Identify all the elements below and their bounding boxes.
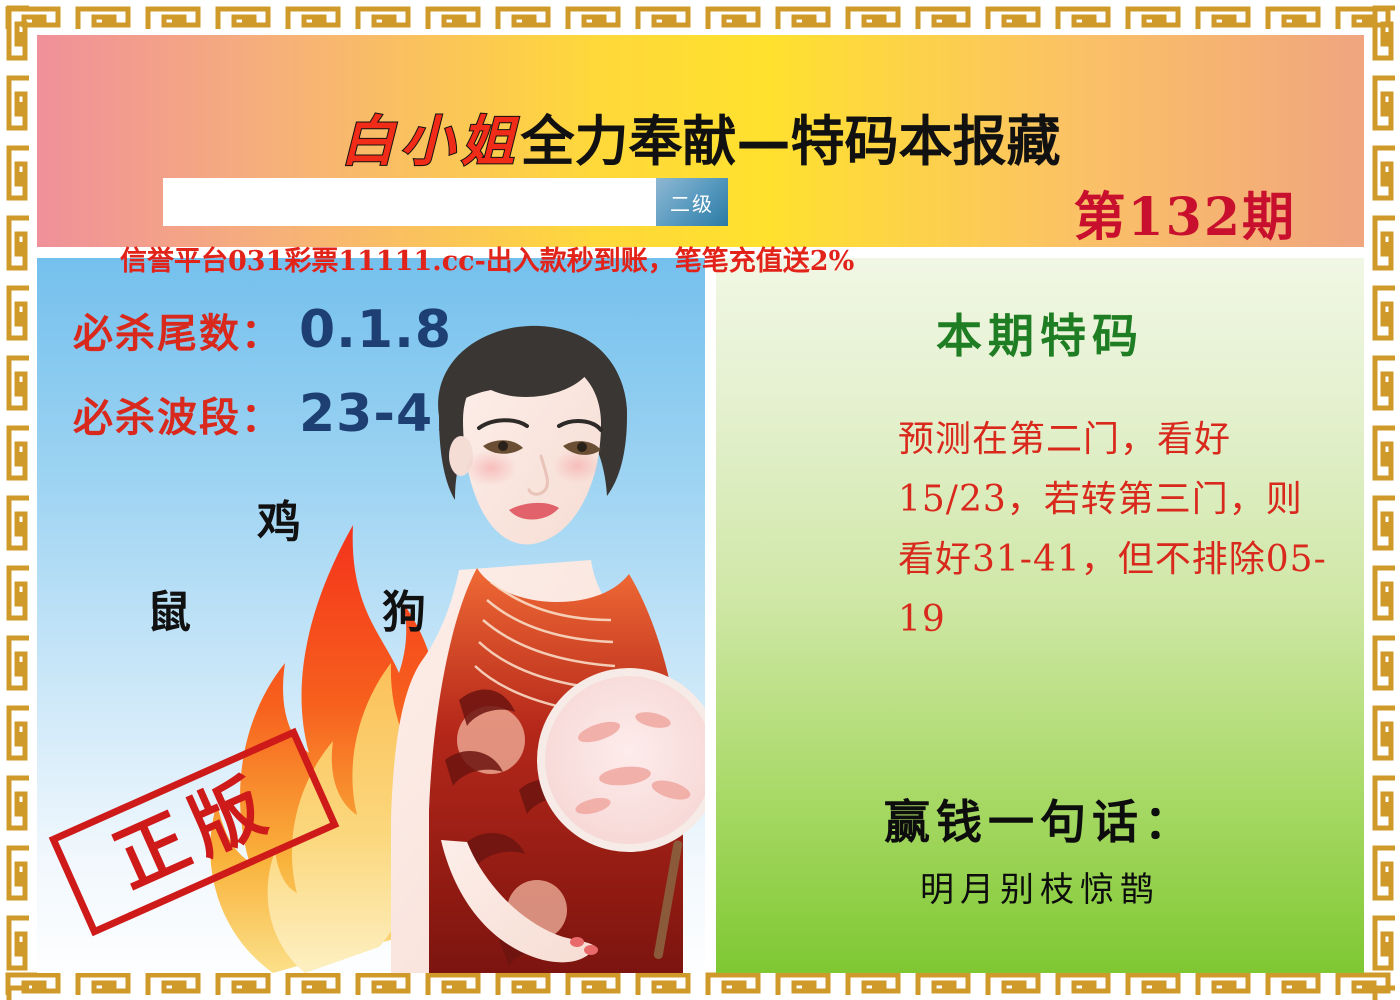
page-title-rest: 全力奉献—特码本报藏 (521, 110, 1061, 173)
page-title-brand: 白小姐 (341, 110, 521, 173)
promo-text: 信誉平台031彩票11111.cc-出入款秒到账，笔笔充值送2% (120, 243, 1070, 281)
lady-illustration (381, 320, 705, 973)
kill-band-label: 必杀波段： (73, 385, 283, 443)
slogan-text: 明月别枝惊鹊 (716, 862, 1364, 911)
kill-tail-label: 必杀尾数： (73, 301, 283, 359)
right-panel: 本期特码 预测在第二门，看好15/23，若转第三门，则看好31-41，但不排除0… (716, 258, 1364, 973)
search-input[interactable] (163, 178, 656, 226)
slogan-label: 赢钱一句话： (716, 786, 1364, 852)
special-code-title: 本期特码 (716, 300, 1364, 366)
border-left-ornament (0, 0, 34, 1000)
page-title: 白小姐全力奉献—特码本报藏 (37, 97, 1364, 176)
border-top-ornament (0, 0, 1400, 34)
search-row: 二级 (163, 178, 728, 226)
forecast-text: 预测在第二门，看好15/23，若转第三门，则看好31-41，但不排除05-19 (898, 410, 1338, 650)
poster-root: 白小姐全力奉献—特码本报藏 二级 第132期 信誉平台031彩票11111.cc… (0, 0, 1400, 1000)
level-badge[interactable]: 二级 (656, 178, 728, 226)
zodiac-right: 狗 (382, 576, 426, 640)
zodiac-left: 鼠 (147, 576, 191, 640)
header-banner: 白小姐全力奉献—特码本报藏 二级 第132期 (37, 35, 1364, 247)
zodiac-top: 鸡 (257, 486, 301, 550)
issue-number: 第132期 (1073, 175, 1296, 250)
border-right-ornament (1366, 0, 1400, 1000)
left-panel: 必杀尾数： 0.1.8 必杀波段： 23-41 鸡 鼠 狗 正版 (37, 258, 705, 973)
